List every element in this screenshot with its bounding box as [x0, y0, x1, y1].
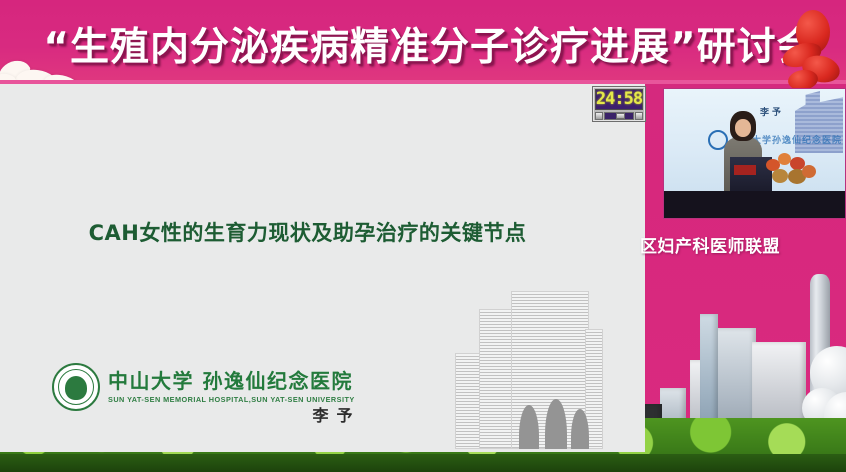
hospital-name-cn: 中山大学 孙逸仙纪念医院	[108, 370, 355, 392]
video-stage-screen: 李予 中山大学孙逸仙纪念医院	[664, 89, 846, 191]
clock-slider-track[interactable]	[604, 112, 634, 120]
video-lower-band	[664, 191, 846, 219]
hospital-seal-icon	[52, 363, 100, 411]
video-flower-arrangement	[764, 151, 820, 191]
event-header-band: “生殖内分泌疾病精准分子诊疗进展”研讨会	[0, 0, 846, 84]
clock-time-value: 24:58	[596, 91, 642, 108]
countdown-clock[interactable]: 24:58	[592, 86, 646, 122]
clock-slider-thumb[interactable]	[616, 113, 625, 119]
broadcast-stage: “生殖内分泌疾病精准分子诊疗进展”研讨会 CAH女性的生育力现状及助孕治疗的关键…	[0, 0, 846, 472]
clock-control-bar[interactable]	[595, 112, 643, 120]
hospital-name-en: SUN YAT-SEN MEMORIAL HOSPITAL,SUN YAT-SE…	[108, 395, 355, 404]
alliance-caption: 区妇产科医师联盟	[640, 232, 780, 257]
hospital-logo: 中山大学 孙逸仙纪念医院 SUN YAT-SEN MEMORIAL HOSPIT…	[52, 357, 352, 417]
presentation-slide: CAH女性的生育力现状及助孕治疗的关键节点 李予 中山大学 孙逸仙纪念医院 SU…	[0, 84, 645, 452]
clock-lcd-screen: 24:58	[595, 89, 643, 110]
live-video-panel[interactable]: 李予 中山大学孙逸仙纪念医院	[663, 88, 846, 219]
slide-title: CAH女性的生育力现状及助孕治疗的关键节点	[0, 217, 645, 247]
clock-right-button[interactable]	[635, 112, 643, 120]
page-title: “生殖内分泌疾病精准分子诊疗进展”研讨会	[0, 16, 846, 72]
clock-left-button[interactable]	[595, 112, 603, 120]
